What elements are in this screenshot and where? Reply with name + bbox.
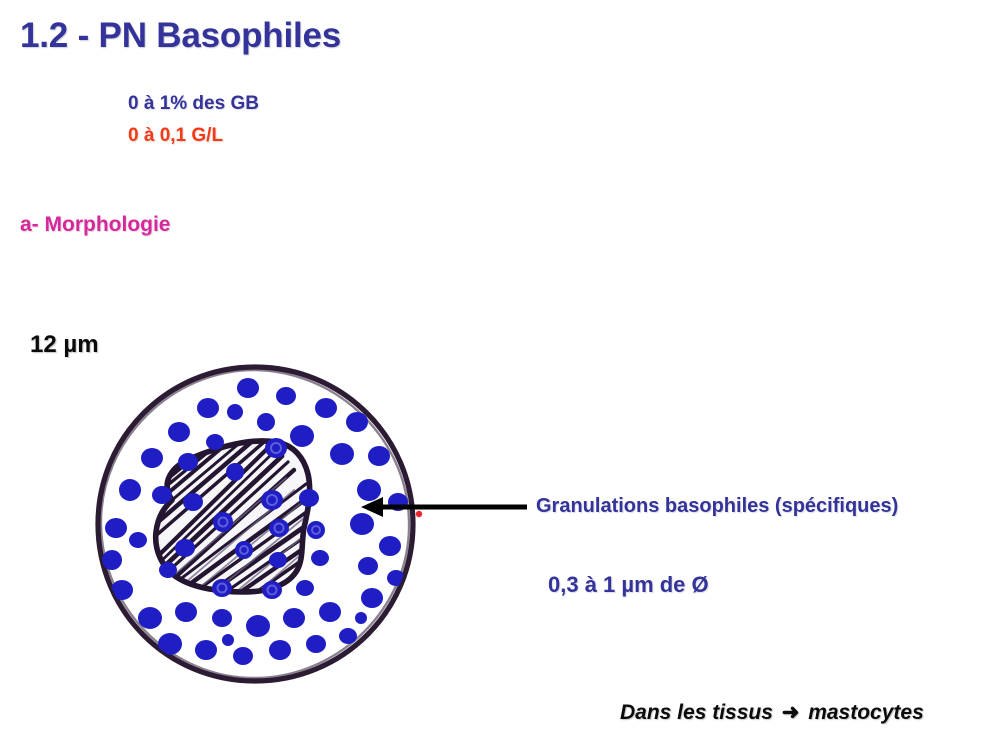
callout-granulations: Granulations basophiles (spécifiques) (536, 495, 898, 518)
basophil-cell-diagram (80, 350, 440, 700)
footer-note: Dans les tissus ➜ mastocytes (620, 700, 924, 725)
footer-note-prefix: Dans les tissus (620, 701, 773, 724)
right-arrow-icon: ➜ (779, 701, 803, 724)
callout-granulation-size: 0,3 à 1 µm de Ø (548, 572, 709, 598)
leader-arrow-icon (355, 492, 530, 524)
callout-leader-arrow (355, 492, 530, 524)
stat-concentration-line: 0 à 0,1 G/L (128, 125, 223, 147)
footer-note-suffix: mastocytes (808, 701, 924, 724)
slide-canvas: 1.2 - PN Basophiles 0 à 1% des GB 0 à 0,… (0, 0, 1000, 743)
stat-percent-line: 0 à 1% des GB (128, 93, 259, 115)
section-heading-morphologie: a- Morphologie (20, 213, 171, 237)
page-title: 1.2 - PN Basophiles (20, 16, 341, 56)
basophil-cell-svg (80, 350, 440, 700)
